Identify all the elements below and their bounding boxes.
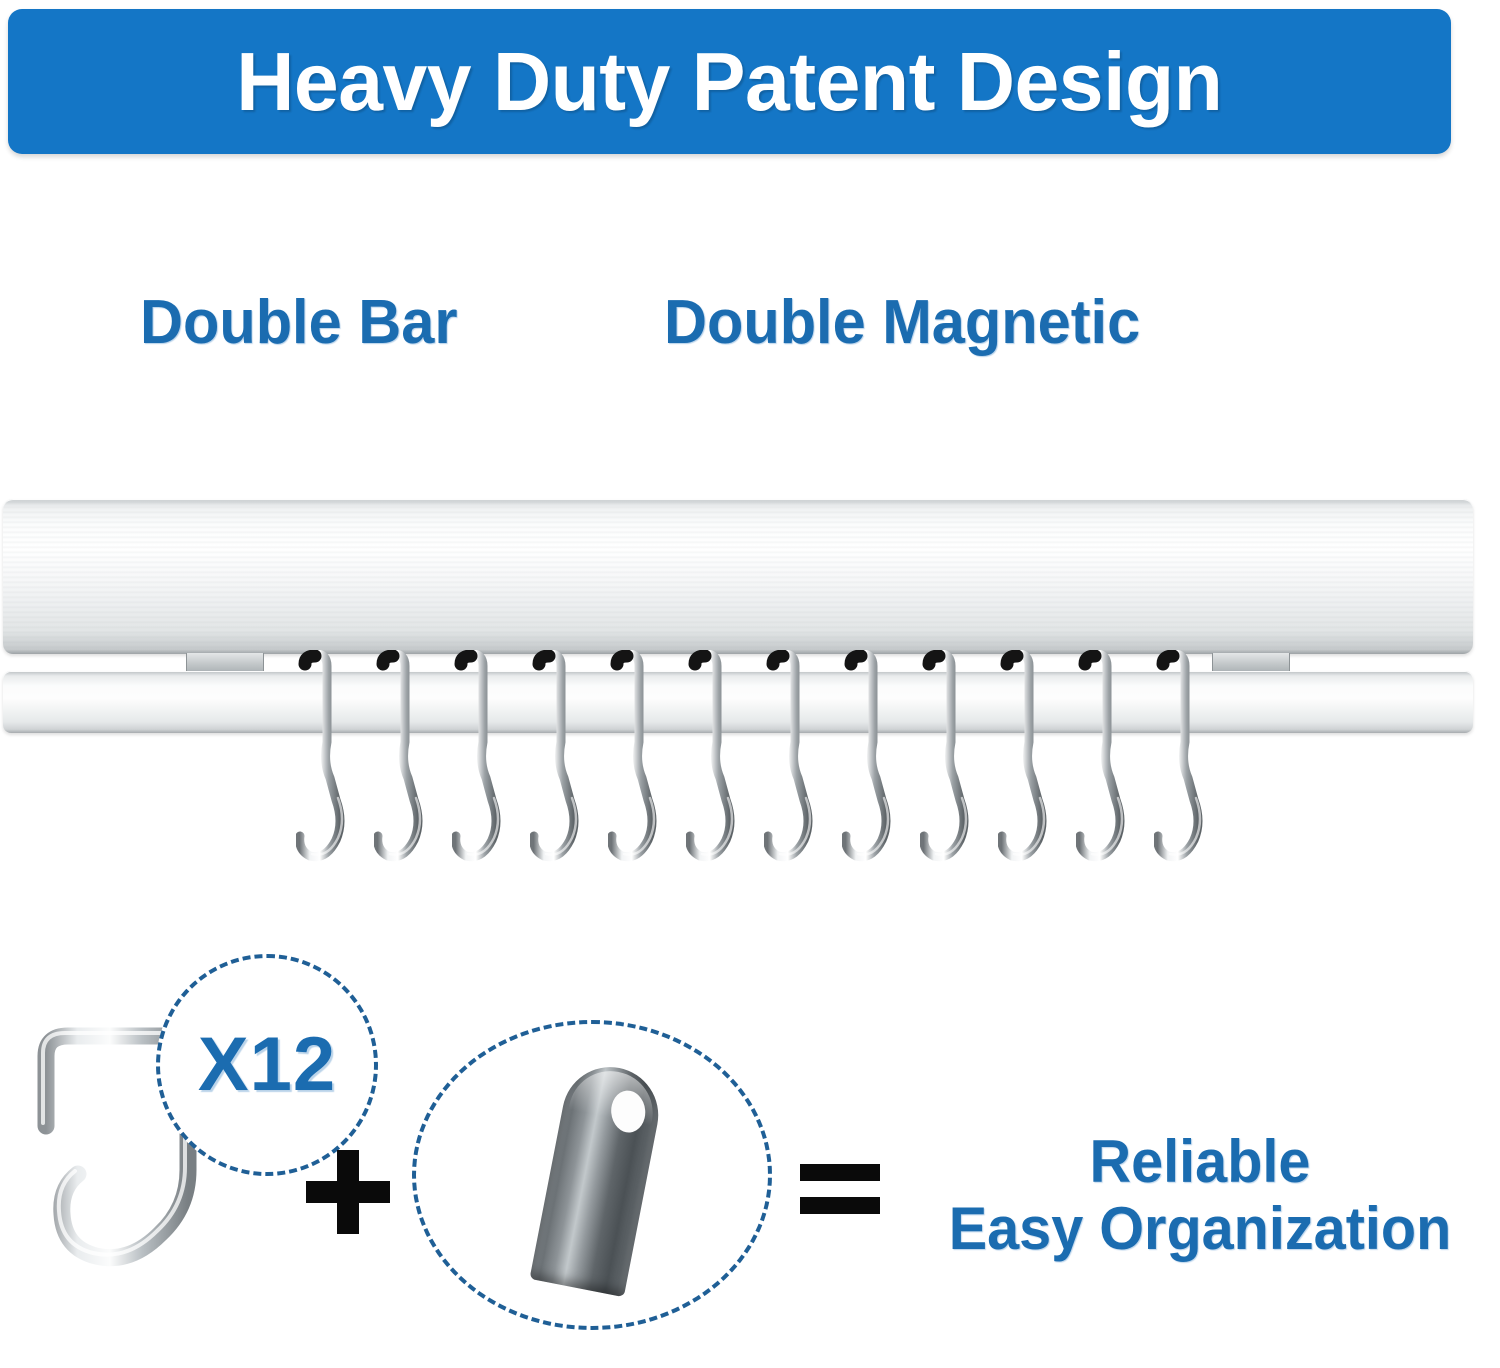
hook-count-label: X12 [198,1027,336,1103]
hook-count-badge: X12 [156,954,378,1176]
feature-label-double-magnetic: Double Magnetic [664,292,1140,354]
equals-icon [800,1164,880,1214]
rail-s-hook [998,650,1070,885]
plus-icon [306,1150,390,1234]
rail-s-hook [1154,650,1226,885]
product-infographic: Heavy Duty Patent Design Double Bar Doub… [0,0,1500,1368]
rail-s-hook [1076,650,1148,885]
rail-s-hook [530,650,602,885]
page-title: Heavy Duty Patent Design [236,40,1222,123]
product-rack-illustration [0,495,1500,915]
rail-s-hook [764,650,836,885]
magnet-cylinder-icon [530,1059,667,1297]
result-line-1: Reliable [912,1128,1488,1195]
result-text: Reliable Easy Organization [912,1128,1488,1262]
result-line-2: Easy Organization [912,1195,1488,1262]
header-banner: Heavy Duty Patent Design [8,9,1451,154]
upper-magnetic-bar [3,499,1473,654]
rail-s-hook [920,650,992,885]
rail-s-hook [686,650,758,885]
rail-s-hook [296,650,368,885]
rail-s-hook [452,650,524,885]
rail-s-hook [842,650,914,885]
magnet-badge [412,1020,772,1330]
plus-icon-horizontal [306,1181,390,1203]
feature-headings: Double Bar Double Magnetic [0,292,1500,372]
equals-icon-bar-top [800,1164,880,1181]
rail-s-hook [374,650,446,885]
hook-row [0,650,1500,910]
rail-s-hook [608,650,680,885]
equals-icon-bar-bottom [800,1197,880,1214]
feature-label-double-bar: Double Bar [140,292,457,354]
